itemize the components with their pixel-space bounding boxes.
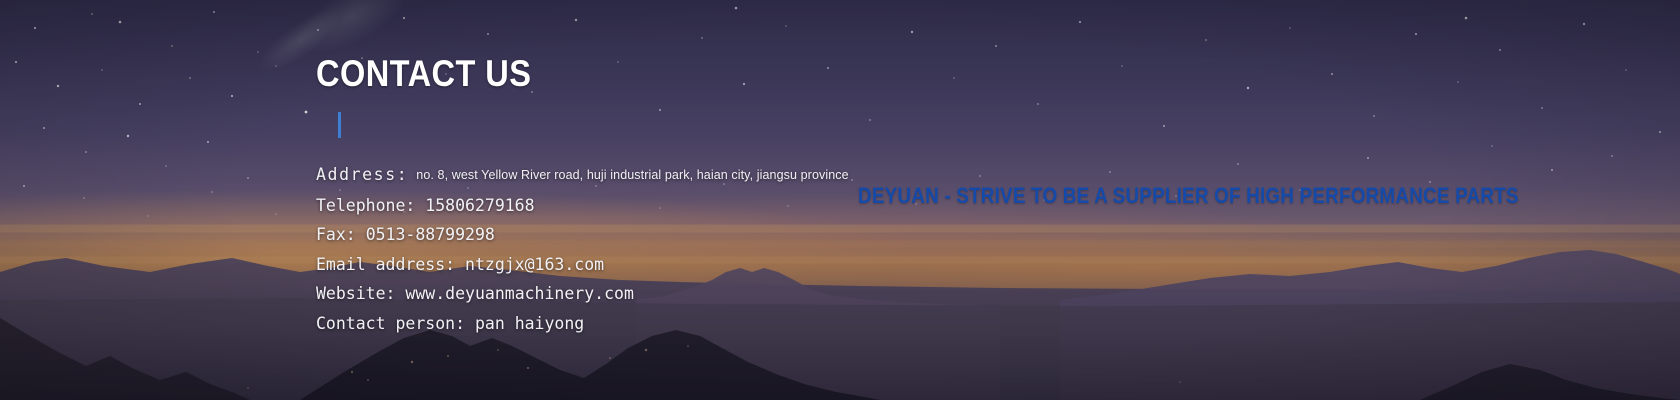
website-label: Website:: [316, 284, 395, 303]
email-value[interactable]: ntzgjx@163.com: [465, 255, 604, 274]
email-label: Email address:: [316, 255, 455, 274]
page-title: CONTACT US: [316, 54, 1478, 94]
address-value: no. 8, west Yellow River road, huji indu…: [408, 168, 848, 182]
telephone-value[interactable]: 15806279168: [425, 196, 534, 215]
website-value[interactable]: www.deyuanmachinery.com: [405, 284, 633, 303]
contact-email-row: Email address: ntzgjx@163.com: [316, 250, 1636, 280]
contact-fax-row: Fax: 0513-88799298: [316, 220, 1636, 250]
contact-person-value: pan haiyong: [475, 314, 584, 333]
contact-website-row: Website: www.deyuanmachinery.com: [316, 279, 1636, 309]
contact-us-banner: CONTACT US Address:no. 8, west Yellow Ri…: [0, 0, 1680, 400]
telephone-label: Telephone:: [316, 196, 415, 215]
address-label: Address:: [316, 165, 408, 184]
title-accent-bar: [338, 112, 341, 138]
company-slogan: DEYUAN - STRIVE TO BE A SUPPLIER OF HIGH…: [858, 183, 1519, 209]
fax-value: 0513-88799298: [366, 225, 495, 244]
contact-person-row: Contact person: pan haiyong: [316, 309, 1636, 339]
fax-label: Fax:: [316, 225, 356, 244]
contact-person-label: Contact person:: [316, 314, 465, 333]
